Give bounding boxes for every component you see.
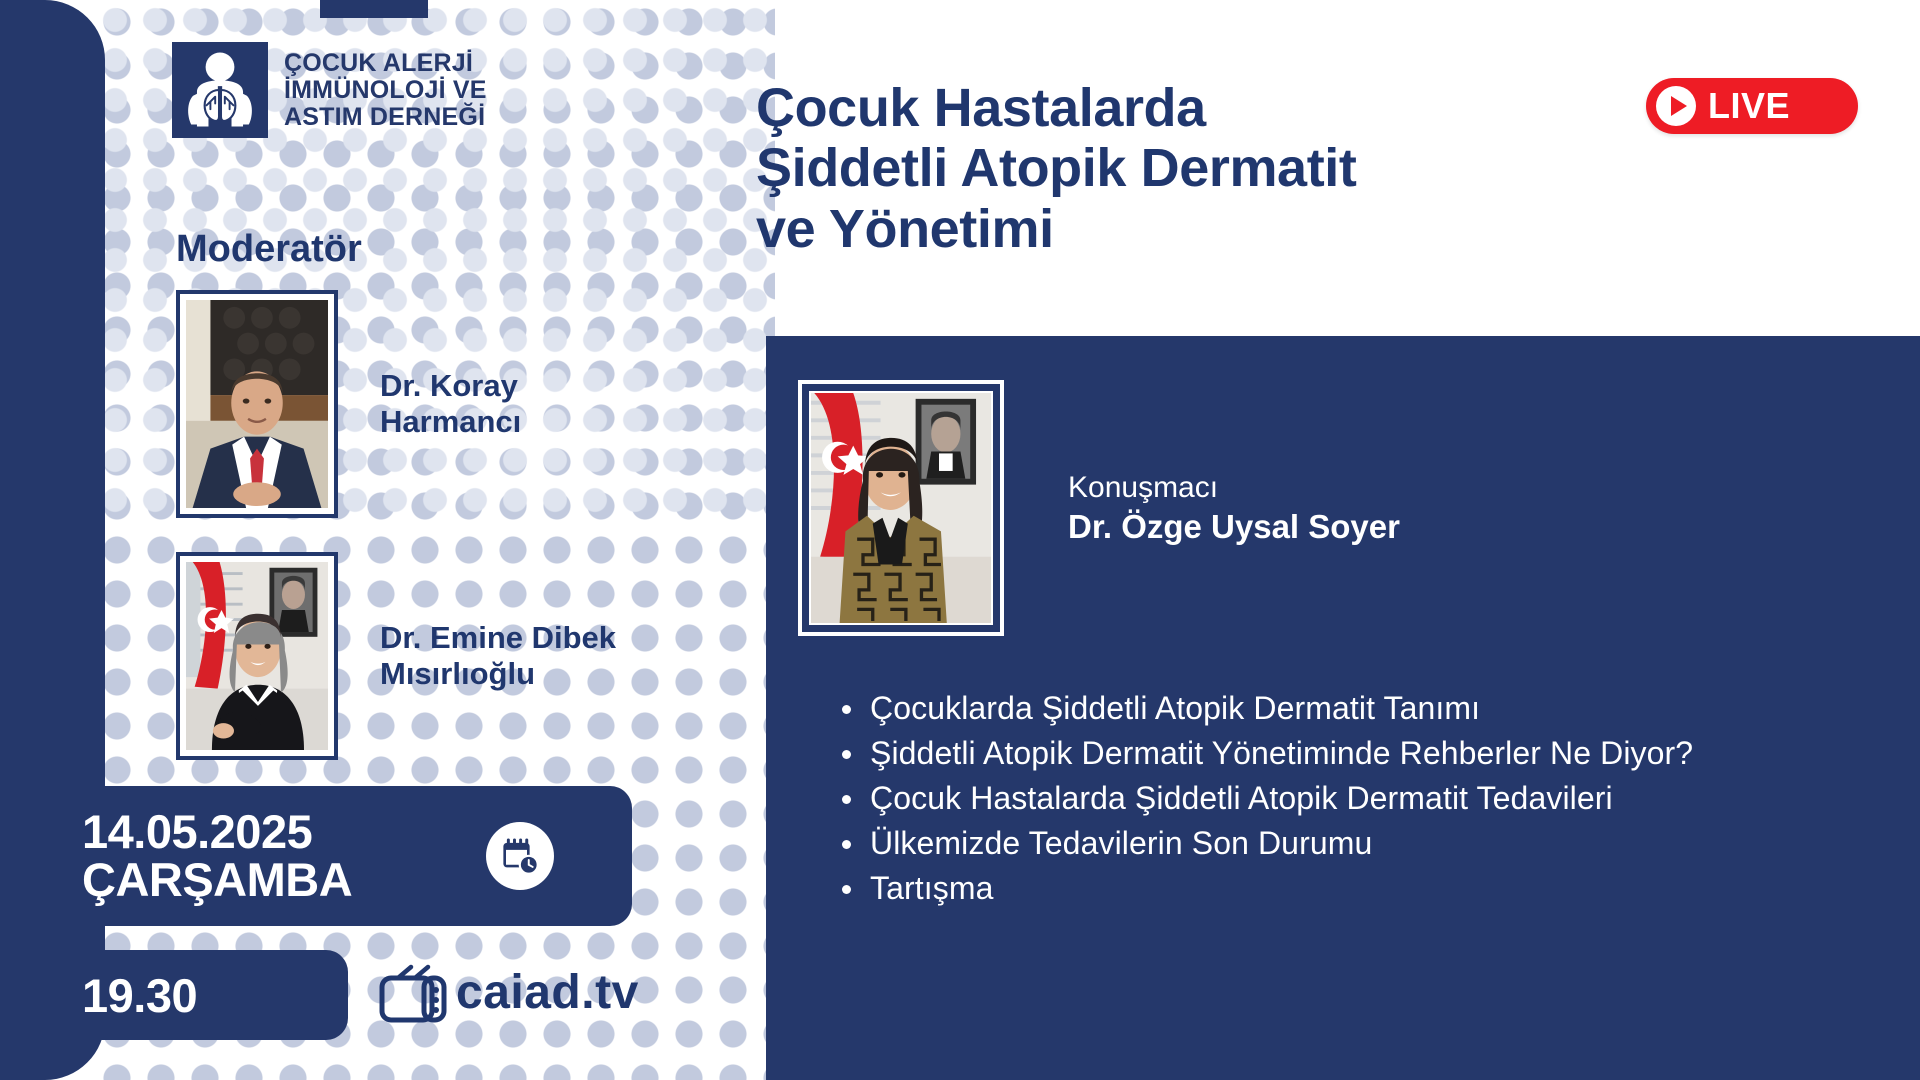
avatar (798, 380, 1004, 636)
portrait-female-office (809, 391, 993, 625)
moderator-heading: Moderatör (176, 228, 362, 271)
list-item: Tartışma (828, 868, 1888, 909)
moderator-item: Dr. Koray Harmancı (176, 290, 521, 518)
list-item: Şiddetli Atopik Dermatit Yönetiminde Reh… (828, 733, 1888, 774)
event-time: 19.30 (82, 972, 197, 1019)
event-date: 14.05.2025 ÇARŞAMBA (82, 808, 352, 904)
portrait-female-flag (186, 562, 328, 750)
webinar-poster: ÇOCUK ALERJİ İMMÜNOLOJİ VE ASTIM DERNEĞİ… (0, 0, 1920, 1080)
play-icon (1656, 86, 1696, 126)
channel-label: caiad.tv (456, 969, 639, 1017)
page-title: Çocuk Hastalarda Şiddetli Atopik Dermati… (756, 78, 1636, 259)
live-badge[interactable]: LIVE (1646, 78, 1858, 134)
list-item: Çocuk Hastalarda Şiddetli Atopik Dermati… (828, 778, 1888, 819)
portrait-male-suit (186, 300, 328, 508)
topic-list: Çocuklarda Şiddetli Atopik Dermatit Tanı… (828, 688, 1888, 913)
tv-icon (378, 962, 448, 1024)
list-item: Ülkemizde Tedavilerin Son Durumu (828, 823, 1888, 864)
channel-block[interactable]: caiad.tv (378, 962, 639, 1024)
speaker-name: Dr. Özge Uysal Soyer (1068, 506, 1400, 547)
moderator-item: Dr. Emine Dibek Mısırlıoğlu (176, 552, 616, 760)
association-logo: ÇOCUK ALERJİ İMMÜNOLOJİ VE ASTIM DERNEĞİ (172, 42, 487, 138)
event-date-pill: 14.05.2025 ÇARŞAMBA (0, 786, 632, 926)
calendar-clock-icon (486, 822, 554, 890)
list-item: Çocuklarda Şiddetli Atopik Dermatit Tanı… (828, 688, 1888, 729)
avatar (176, 290, 338, 518)
top-navy-tab (320, 0, 428, 18)
live-label: LIVE (1708, 88, 1790, 124)
moderator-name: Dr. Emine Dibek Mısırlıoğlu (380, 620, 616, 692)
speaker-role-label: Konuşmacı (1068, 469, 1400, 507)
lungs-person-icon (172, 42, 268, 138)
avatar (176, 552, 338, 760)
association-name: ÇOCUK ALERJİ İMMÜNOLOJİ VE ASTIM DERNEĞİ (284, 50, 487, 131)
moderator-name: Dr. Koray Harmancı (380, 368, 521, 440)
speaker-block: Konuşmacı Dr. Özge Uysal Soyer (798, 380, 1400, 636)
event-time-pill: 19.30 (0, 950, 348, 1040)
speaker-panel: Konuşmacı Dr. Özge Uysal Soyer Çocuklard… (766, 336, 1920, 1080)
